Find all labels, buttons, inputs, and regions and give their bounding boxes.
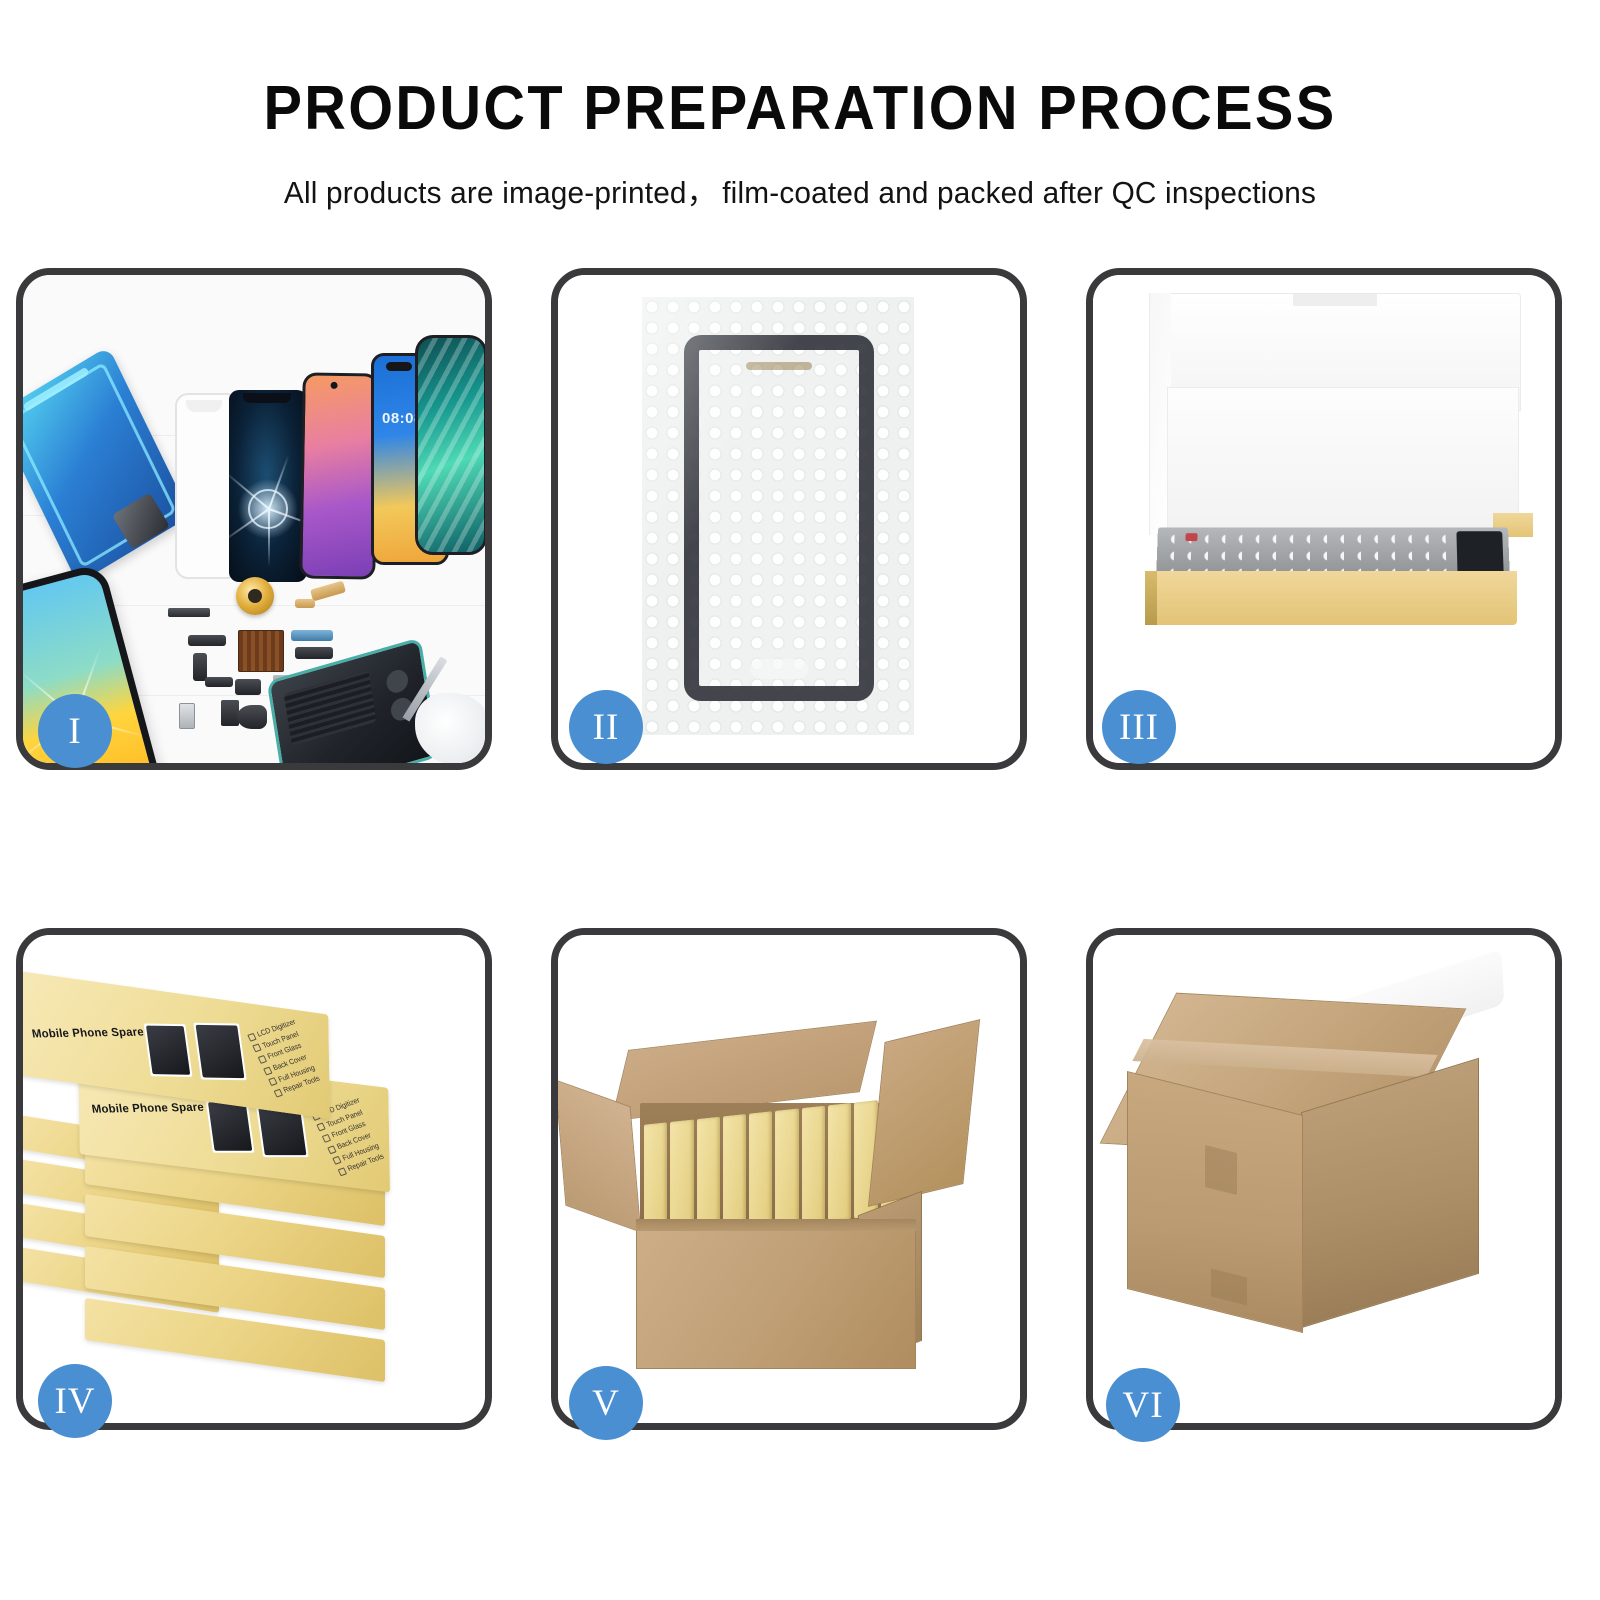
process-steps-grid: 08:08 — [0, 268, 1600, 1430]
carton-flap-right-icon — [868, 1019, 980, 1207]
vibrator-icon — [221, 700, 239, 726]
flex-cable-gold-icon — [310, 581, 346, 602]
retail-box-printed: Mobile Phone Spare Parts LCD Digitizer T… — [23, 971, 330, 1119]
stacked-retail-boxes-image: Mobile Phone Spare Parts LCD Digitizer T… — [23, 935, 485, 1423]
carton-front-edge-icon — [636, 1219, 916, 1231]
wireless-charging-coil-icon — [236, 577, 274, 615]
red-marker-icon — [1185, 533, 1197, 541]
blue-lcd-frame-icon — [23, 346, 191, 584]
step-badge-1: I — [38, 694, 112, 768]
spare-parts-collage-image: 08:08 — [23, 275, 485, 763]
phone-display-teal-icon — [415, 335, 485, 555]
process-step-3: III — [1086, 268, 1562, 770]
header: PRODUCT PREPARATION PROCESS All products… — [0, 0, 1600, 212]
foam-insert-icon — [1167, 387, 1519, 535]
step-card: 08:08 — [16, 268, 492, 770]
phone-front-panel-icon — [684, 335, 874, 701]
carton-front-face-icon — [636, 1219, 916, 1369]
gift-box-base-icon — [1145, 571, 1517, 625]
ribbon-cable-end-icon — [205, 677, 233, 687]
sim-tray-icon — [179, 703, 195, 729]
bubble-wrapped-screen-image — [558, 275, 1020, 763]
step-badge-4: IV — [38, 1364, 112, 1438]
ic-chip-icon — [238, 630, 284, 672]
process-step-4: Mobile Phone Spare Parts LCD Digitizer T… — [16, 928, 492, 1430]
process-step-1: 08:08 — [16, 268, 492, 770]
step-card: Mobile Phone Spare Parts LCD Digitizer T… — [16, 928, 492, 1430]
step-card — [551, 928, 1027, 1430]
blue-flex-cable-icon — [291, 630, 333, 641]
step-badge-6: VI — [1106, 1368, 1180, 1442]
earpiece-slot-icon — [746, 362, 812, 370]
retail-box-phone-photo — [144, 1023, 193, 1076]
gift-box-packing-image — [1093, 275, 1555, 763]
process-step-5: V — [551, 928, 1027, 1430]
step-badge-2: II — [569, 690, 643, 764]
bubble-wrap-sheet-icon — [642, 297, 914, 735]
gift-box-base-edge-icon — [1145, 571, 1157, 625]
microphone-icon — [235, 679, 261, 695]
ribbon-cable-icon — [193, 653, 207, 681]
connector-icon — [295, 647, 333, 659]
subtitle-comma: ， — [687, 175, 723, 210]
product-preparation-infographic: PRODUCT PREPARATION PROCESS All products… — [0, 0, 1600, 1600]
subtitle-part-one: All products are image-printed — [284, 175, 687, 210]
taptic-engine-icon — [237, 705, 267, 729]
small-flex-icon — [188, 635, 226, 646]
process-step-2: II — [551, 268, 1027, 770]
page-subtitle: All products are image-printed，film-coat… — [32, 167, 1568, 212]
cracked-screen-icon — [229, 390, 307, 582]
earpiece-mesh-icon — [168, 608, 210, 617]
retail-box-phone-photo — [193, 1023, 246, 1081]
sealed-carton-image — [1093, 935, 1555, 1423]
step-card — [1086, 928, 1562, 1430]
cleaning-cloth-icon — [415, 693, 485, 763]
step-badge-3: III — [1102, 690, 1176, 764]
carton-tape-tab-icon — [1205, 1145, 1237, 1195]
open-carton-packing-image — [558, 935, 1020, 1423]
process-step-6: VI — [1086, 928, 1562, 1430]
flex-cable-gold-small-icon — [295, 599, 315, 608]
subtitle-part-two: film-coated and packed after QC inspecti… — [722, 175, 1316, 210]
page-title: PRODUCT PREPARATION PROCESS — [56, 78, 1544, 140]
step-badge-5: V — [569, 1366, 643, 1440]
white-screen-protector-icon — [175, 393, 231, 579]
phone-display-orange-purple-icon — [299, 372, 379, 579]
home-button-icon — [750, 659, 808, 679]
retail-box-checklist: LCD Digitizer Touch Panel Front Glass Ba… — [246, 1016, 324, 1100]
retail-box-phone-photo — [206, 1100, 255, 1153]
